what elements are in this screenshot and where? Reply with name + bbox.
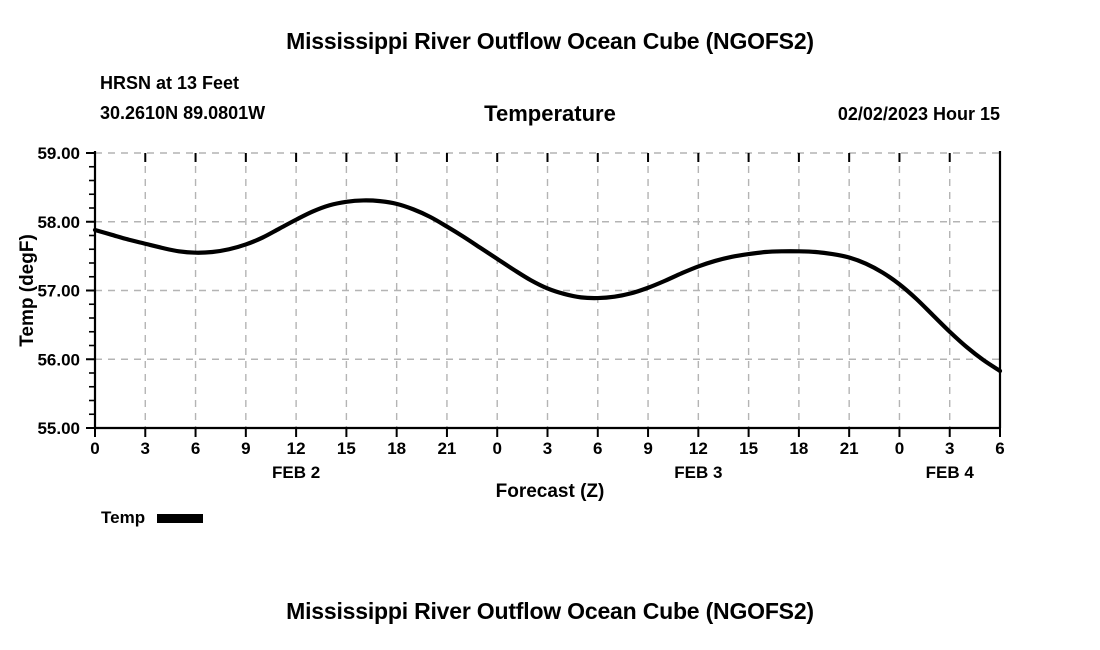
x-tick-label: 3 [543,439,552,458]
day-label: FEB 2 [272,463,320,482]
legend-line-swatch [157,514,203,523]
x-tick-label: 15 [337,439,356,458]
x-tick-label: 12 [689,439,708,458]
y-axis-title: Temp (degF) [17,234,38,347]
x-tick-label: 21 [437,439,456,458]
axis-ticks-group [86,153,1000,437]
day-labels-group: FEB 2FEB 3FEB 4 [272,463,974,482]
x-tick-label: 6 [593,439,602,458]
x-tick-label: 15 [739,439,758,458]
x-tick-label: 0 [895,439,904,458]
x-axis-title: Forecast (Z) [0,481,1100,503]
y-tick-label: 56.00 [37,350,80,369]
y-axis-title-group: Temp (degF) [17,234,38,347]
x-tick-label: 12 [287,439,306,458]
x-tick-label: 18 [789,439,808,458]
y-tick-label: 58.00 [37,213,80,232]
y-tick-label: 59.00 [37,144,80,163]
x-tick-label: 9 [241,439,250,458]
x-tick-label: 0 [492,439,501,458]
chart-page: Mississippi River Outflow Ocean Cube (NG… [0,0,1100,650]
x-tick-label: 6 [191,439,200,458]
x-tick-label: 3 [945,439,954,458]
x-tick-label: 9 [643,439,652,458]
day-label: FEB 3 [674,463,722,482]
chart-plot-area: 55.0056.0057.0058.0059.00 03691215182103… [0,0,1100,650]
footer-title: Mississippi River Outflow Ocean Cube (NG… [0,598,1100,625]
x-tick-label: 3 [141,439,150,458]
temperature-line-chart: 55.0056.0057.0058.0059.00 03691215182103… [0,0,1100,650]
x-tick-label: 0 [90,439,99,458]
y-tick-label: 55.00 [37,419,80,438]
x-tick-label: 18 [387,439,406,458]
y-tick-label: 57.00 [37,282,80,301]
x-tick-label: 6 [995,439,1004,458]
x-tick-label: 21 [840,439,859,458]
chart-legend: Temp [101,508,203,528]
day-label: FEB 4 [926,463,975,482]
x-tick-labels-group: 036912151821036912151821036 [90,439,1004,458]
legend-item-label: Temp [101,508,145,528]
y-tick-labels-group: 55.0056.0057.0058.0059.00 [37,144,80,438]
